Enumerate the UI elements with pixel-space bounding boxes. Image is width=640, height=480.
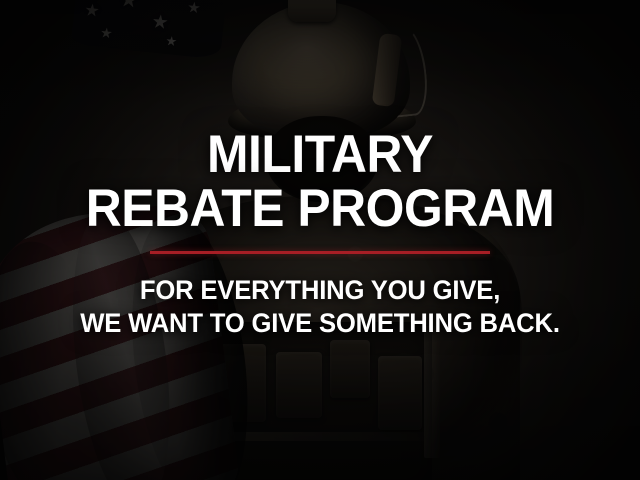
subtitle-line-1: FOR EVERYTHING YOU GIVE, [16, 275, 624, 307]
military-rebate-poster: ★ ★ ★ ★ ★ ★ MILITARY REBATE PROGRAM FOR … [0, 0, 640, 480]
text-overlay: MILITARY REBATE PROGRAM FOR EVERYTHING Y… [0, 0, 640, 480]
red-divider-rule [150, 251, 490, 254]
headline-line-2: REBATE PROGRAM [19, 183, 621, 235]
subtitle-line-2: WE WANT TO GIVE SOMETHING BACK. [16, 308, 624, 340]
headline-line-1: MILITARY [19, 129, 621, 181]
